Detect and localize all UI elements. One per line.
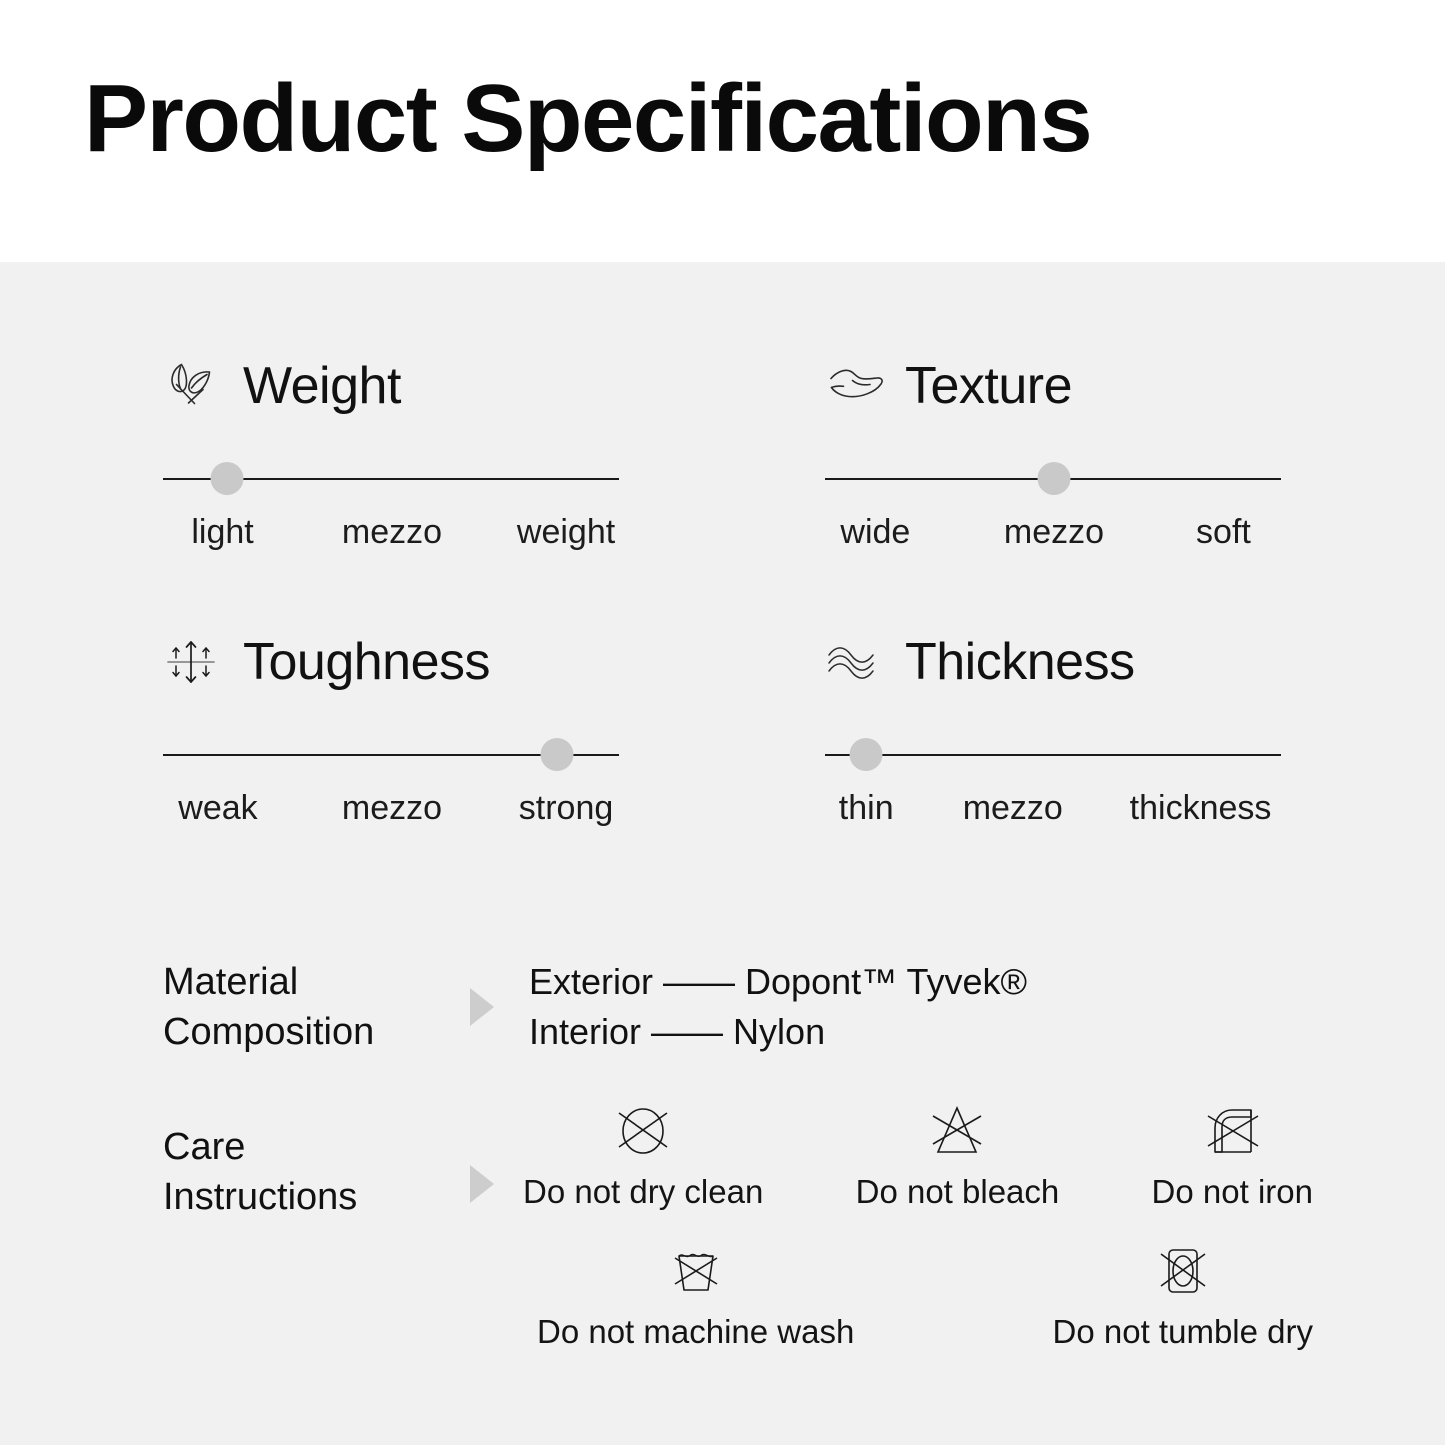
feather-icon [163, 358, 229, 414]
no-tumble-dry-icon [1142, 1238, 1224, 1302]
texture-scale: wide mezzo soft [825, 510, 1283, 560]
attribute-thickness-title: Thickness [905, 636, 1135, 688]
weight-slider-knob[interactable] [211, 462, 244, 495]
care-symbols-row-2: Do not machine wash [523, 1238, 1313, 1352]
attribute-thickness-header: Thickness [825, 626, 1283, 698]
care-text-iron: Do not iron [1152, 1172, 1313, 1212]
thickness-scale-label-mid: mezzo [963, 786, 1063, 830]
attribute-weight: Weight light mezzo weight [163, 350, 621, 560]
product-specifications-page: Product Specifications [0, 0, 1445, 1445]
care-symbols-row-1: Do not dry clean [523, 1098, 1313, 1212]
toughness-slider[interactable] [163, 738, 621, 772]
care-text-tumble-dry: Do not tumble dry [1053, 1312, 1313, 1352]
toughness-scale-label-mid: mezzo [342, 786, 442, 830]
attribute-texture-title: Texture [905, 360, 1072, 412]
weight-scale-label-max: weight [517, 510, 615, 554]
attribute-thickness: Thickness thin mezzo thickness [825, 626, 1283, 836]
texture-slider-knob[interactable] [1038, 462, 1071, 495]
no-machine-wash-icon [655, 1238, 737, 1302]
care-item-bleach: Do not bleach [856, 1098, 1060, 1212]
care-item-machine-wash: Do not machine wash [537, 1238, 854, 1352]
attribute-weight-header: Weight [163, 350, 621, 422]
care-symbols-grid: Do not dry clean [523, 1098, 1313, 1351]
hand-icon [825, 358, 891, 414]
material-line-exterior: Exterior —— Dopont™ Tyvek® [529, 957, 1027, 1007]
texture-slider[interactable] [825, 462, 1283, 496]
toughness-scale: weak mezzo strong [163, 786, 621, 836]
care-item-dry-clean: Do not dry clean [523, 1098, 763, 1212]
thickness-scale-label-max: thickness [1130, 786, 1272, 830]
toughness-scale-label-max: strong [519, 786, 614, 830]
weight-scale-label-min: light [191, 510, 253, 554]
triangle-right-icon [470, 988, 494, 1026]
texture-scale-label-min: wide [840, 510, 910, 554]
weight-scale-label-mid: mezzo [342, 510, 442, 554]
attribute-toughness-title: Toughness [243, 636, 490, 688]
attribute-weight-title: Weight [243, 360, 401, 412]
attribute-texture-header: Texture [825, 350, 1283, 422]
thickness-scale: thin mezzo thickness [825, 786, 1283, 836]
care-text-bleach: Do not bleach [856, 1172, 1060, 1212]
care-item-tumble-dry: Do not tumble dry [1053, 1238, 1313, 1352]
care-item-iron: Do not iron [1152, 1098, 1313, 1212]
care-text-dry-clean: Do not dry clean [523, 1172, 763, 1212]
weight-slider[interactable] [163, 462, 621, 496]
thickness-slider-track[interactable] [825, 754, 1281, 756]
material-composition-label: Material Composition [163, 957, 453, 1057]
no-iron-icon [1191, 1098, 1273, 1162]
no-dry-clean-icon [602, 1098, 684, 1162]
weight-scale: light mezzo weight [163, 510, 621, 560]
triangle-right-icon [470, 1165, 494, 1203]
toughness-scale-label-min: weak [178, 786, 257, 830]
thickness-scale-label-min: thin [839, 786, 894, 830]
attribute-toughness-header: Toughness [163, 626, 621, 698]
texture-scale-label-mid: mezzo [1004, 510, 1104, 554]
attribute-toughness: Toughness weak mezzo strong [163, 626, 621, 836]
waves-icon [825, 634, 891, 690]
thickness-slider[interactable] [825, 738, 1283, 772]
toughness-slider-knob[interactable] [540, 738, 573, 771]
page-title: Product Specifications [84, 66, 1091, 172]
no-bleach-icon [916, 1098, 998, 1162]
header-band: Product Specifications [0, 0, 1445, 262]
texture-scale-label-max: soft [1196, 510, 1251, 554]
material-composition-values: Exterior —— Dopont™ Tyvek® Interior —— N… [529, 957, 1027, 1056]
thickness-slider-knob[interactable] [850, 738, 883, 771]
arrows-stretch-icon [163, 634, 229, 690]
specs-panel: Weight light mezzo weight [0, 262, 1445, 1445]
care-instructions-label: Care Instructions [163, 1122, 453, 1222]
material-line-interior: Interior —— Nylon [529, 1007, 1027, 1057]
attribute-texture: Texture wide mezzo soft [825, 350, 1283, 560]
care-text-machine-wash: Do not machine wash [537, 1312, 854, 1352]
